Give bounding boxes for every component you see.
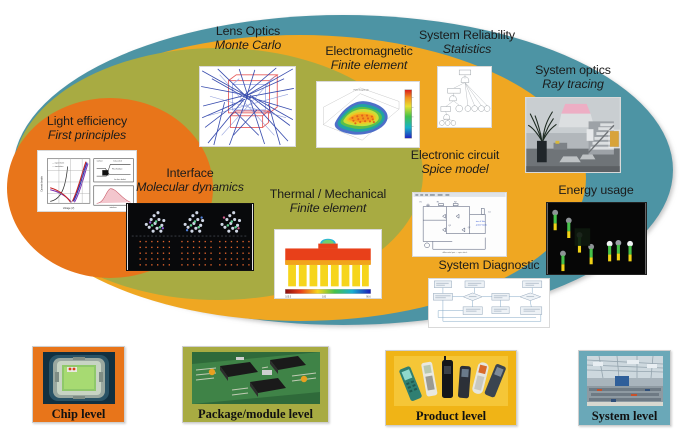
svg-text:Current density: Current density	[40, 175, 43, 192]
label-title: Thermal / Mechanical	[255, 188, 401, 202]
label-electronic-circuit: Electronic circuit Spice model	[385, 149, 525, 177]
label-title: Energy usage	[537, 184, 655, 198]
label-method: Finite element	[300, 59, 438, 73]
svg-text:Flux Surface: Flux Surface	[112, 168, 122, 170]
system-optics-render	[525, 97, 621, 173]
electromagnetic-surface: Field magnitude	[316, 81, 420, 148]
svg-text:R2: R2	[454, 202, 456, 204]
label-method: Monte Carlo	[182, 39, 314, 53]
chip-level-thumbnail	[43, 352, 115, 404]
label-title: Lens Optics	[182, 25, 314, 39]
label-method: Molecular dynamics	[123, 181, 257, 195]
level-card-package[interactable]: Package/module level	[182, 346, 329, 423]
level-card-chip[interactable]: Chip level	[32, 346, 125, 423]
label-title: System optics	[512, 64, 634, 78]
svg-text:interface: interface	[110, 206, 117, 209]
product-level-caption: Product level	[416, 409, 486, 424]
label-system-diagnostic: System Diagnostic	[420, 259, 558, 273]
chip-level-caption: Chip level	[52, 407, 106, 422]
svg-text:surface: surface	[97, 161, 103, 163]
energy-usage-monitor	[546, 202, 647, 275]
reliability-fault-tree	[437, 66, 492, 128]
diagnostic-flowchart	[428, 278, 550, 328]
svg-text:Q2: Q2	[468, 227, 471, 229]
spice-schematic: V1R1R2 C1Q1Q2 .tran 0 10m.probe V(out) d…	[412, 192, 507, 257]
label-system-reliability: System Reliability Statistics	[405, 29, 529, 57]
label-method: Ray tracing	[512, 78, 634, 92]
label-thermal-mechanical: Thermal / Mechanical Finite element	[255, 188, 401, 216]
level-card-product[interactable]: Product level	[385, 350, 517, 426]
product-level-thumbnail	[394, 356, 508, 406]
svg-text:V1: V1	[419, 202, 421, 204]
svg-text:105.5: 105.5	[285, 297, 292, 298]
label-title: Electronic circuit	[385, 149, 525, 163]
label-title: System Reliability	[405, 29, 529, 43]
label-interface: Interface Molecular dynamics	[123, 167, 257, 195]
system-level-thumbnail	[587, 356, 663, 406]
svg-text:.tran 0 10m: .tran 0 10m	[475, 220, 485, 223]
label-method: Statistics	[405, 43, 529, 57]
level-card-system[interactable]: System level	[578, 350, 671, 426]
svg-text:.probe V(out): .probe V(out)	[475, 223, 487, 226]
interface-md	[126, 203, 254, 271]
svg-text:— simulation: — simulation	[52, 165, 63, 168]
label-energy-usage: Energy usage	[537, 184, 655, 198]
lens-optics-raytrace	[199, 66, 296, 147]
package-level-thumbnail	[192, 352, 320, 404]
label-title: Interface	[123, 167, 257, 181]
system-level-caption: System level	[592, 409, 658, 424]
light-efficiency-plot: — experiment— simulation Voltage (V) Cur…	[37, 150, 137, 212]
svg-text:Cut-n-stick: Cut-n-stick	[113, 160, 122, 163]
svg-text:C1: C1	[488, 211, 490, 213]
label-lens-optics: Lens Optics Monte Carlo	[182, 25, 314, 53]
label-method: First principles	[17, 129, 157, 143]
svg-text:Voltage (V): Voltage (V)	[63, 207, 75, 210]
label-method: Finite element	[255, 202, 401, 216]
svg-text:— experiment: — experiment	[52, 162, 64, 165]
label-method: Spice model	[385, 163, 525, 177]
package-level-caption: Package/module level	[198, 407, 313, 422]
label-system-optics: System optics Ray tracing	[512, 64, 634, 92]
svg-text:differential pair — spice deck: differential pair — spice deck	[443, 251, 468, 254]
diagram-canvas: — experiment— simulation Voltage (V) Cur…	[0, 0, 685, 431]
svg-text:Field magnitude: Field magnitude	[354, 89, 370, 92]
label-light-efficiency: Light efficiency First principles	[17, 115, 157, 143]
thermal-fem: 105.5100 90.6	[274, 229, 382, 299]
label-title: System Diagnostic	[420, 259, 558, 273]
svg-text:100: 100	[322, 297, 327, 298]
svg-text:Q1: Q1	[448, 225, 451, 227]
label-title: Light efficiency	[17, 115, 157, 129]
svg-text:90.6: 90.6	[366, 297, 371, 298]
svg-text:R1: R1	[437, 202, 439, 204]
